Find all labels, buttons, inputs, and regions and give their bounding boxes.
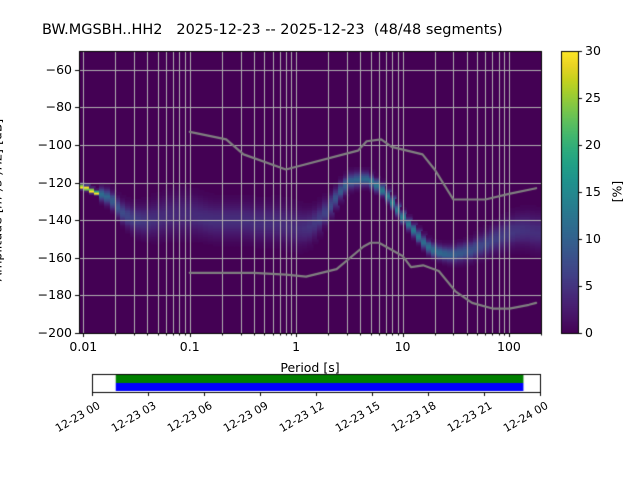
- y-tick-label: −120: [38, 175, 72, 190]
- colorbar-tick-label: 15: [585, 184, 601, 199]
- y-tick-label: −160: [38, 250, 72, 265]
- x-tick-label: 1: [266, 339, 326, 354]
- colorbar-label: [%]: [609, 181, 624, 203]
- y-tick-label: −80: [46, 99, 72, 114]
- y-tick-label: −60: [46, 62, 72, 77]
- colorbar-tick-label: 10: [585, 231, 601, 246]
- colorbar-tick-label: 25: [585, 90, 601, 105]
- y-tick-label: −140: [38, 212, 72, 227]
- colorbar-tick-label: 5: [585, 278, 593, 293]
- y-tick-label: −180: [38, 287, 72, 302]
- colorbar-tick-label: 20: [585, 137, 601, 152]
- x-tick-label: 0.1: [160, 339, 220, 354]
- y-tick-label: −100: [38, 137, 72, 152]
- x-tick-label: 0.01: [53, 339, 113, 354]
- y-axis-label-text: Amplitude [m2/s4/Hz] [dB]: [0, 119, 5, 282]
- y-tick-label: −200: [38, 325, 72, 340]
- y-axis-label: Amplitude [m2/s4/Hz] [dB]: [0, 192, 114, 208]
- x-tick-label: 10: [373, 339, 433, 354]
- colorbar-tick-label: 0: [585, 325, 593, 340]
- ppsd-figure: BW.MGSBH..HH2 2025-12-23 -- 2025-12-23 (…: [0, 0, 640, 480]
- colorbar-tick-label: 30: [585, 43, 601, 58]
- x-tick-label: 100: [479, 339, 539, 354]
- x-axis-label: Period [s]: [270, 360, 350, 375]
